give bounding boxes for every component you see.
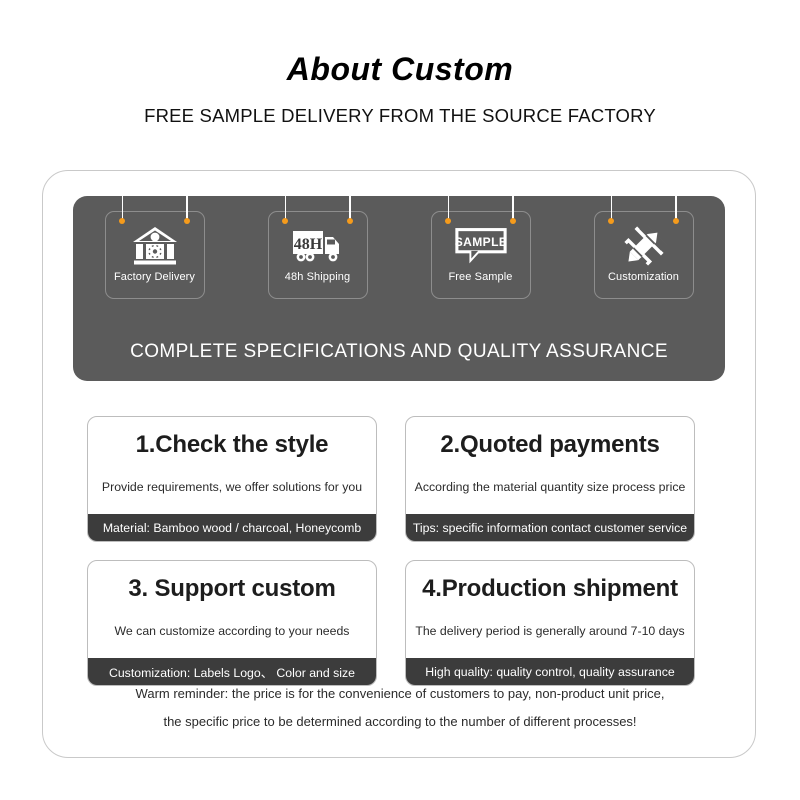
step-title: 3. Support custom [88, 561, 376, 603]
pencil-ruler-icon [617, 224, 671, 268]
pin-left-icon [608, 218, 614, 224]
pin-left-icon [445, 218, 451, 224]
factory-gear-icon [128, 224, 182, 268]
truck-48h-icon: 48H [291, 224, 345, 268]
step-footer-bar: Tips: specific information contact custo… [406, 514, 694, 541]
about-custom-infographic: About Custom FREE SAMPLE DELIVERY FROM T… [0, 0, 800, 800]
step-card-2[interactable]: 2.Quoted payments According the material… [405, 416, 695, 542]
header: About Custom FREE SAMPLE DELIVERY FROM T… [0, 52, 800, 127]
step-card-3[interactable]: 3. Support custom We can customize accor… [87, 560, 377, 686]
pin-right-icon [673, 218, 679, 224]
badge-label: Free Sample [448, 271, 512, 283]
page-title: About Custom [0, 52, 800, 87]
badge-free-sample[interactable]: SAMPLE Free Sample [431, 211, 531, 299]
badge-label: 48h Shipping [285, 271, 350, 283]
step-card-1[interactable]: 1.Check the style Provide requirements, … [87, 416, 377, 542]
badge-48h-shipping[interactable]: 48H 48h Shipping [268, 211, 368, 299]
svg-text:SAMPLE: SAMPLE [454, 235, 507, 249]
step-description: Provide requirements, we offer solutions… [88, 459, 376, 514]
pin-left-icon [119, 218, 125, 224]
page-subtitle: FREE SAMPLE DELIVERY FROM THE SOURCE FAC… [0, 105, 800, 127]
panel-banner: COMPLETE SPECIFICATIONS AND QUALITY ASSU… [73, 341, 725, 363]
step-description: We can customize according to your needs [88, 603, 376, 658]
content-container: Factory Delivery 48H [42, 170, 756, 758]
step-footer-bar: Material: Bamboo wood / charcoal, Honeyc… [88, 514, 376, 541]
step-title: 4.Production shipment [406, 561, 694, 603]
step-description: The delivery period is generally around … [406, 603, 694, 658]
pin-left-icon [282, 218, 288, 224]
pin-right-icon [347, 218, 353, 224]
step-description: According the material quantity size pro… [406, 459, 694, 514]
steps-grid: 1.Check the style Provide requirements, … [87, 416, 713, 686]
pin-right-icon [510, 218, 516, 224]
step-title: 1.Check the style [88, 417, 376, 459]
step-card-4[interactable]: 4.Production shipment The delivery perio… [405, 560, 695, 686]
badge-customization[interactable]: Customization [594, 211, 694, 299]
warm-reminder-note: Warm reminder: the price is for the conv… [43, 680, 757, 735]
warm-reminder-line-1: Warm reminder: the price is for the conv… [43, 680, 757, 707]
svg-text:48H: 48H [293, 236, 322, 253]
warm-reminder-line-2: the specific price to be determined acco… [43, 708, 757, 735]
step-title: 2.Quoted payments [406, 417, 694, 459]
badge-factory-delivery[interactable]: Factory Delivery [105, 211, 205, 299]
badge-row: Factory Delivery 48H [73, 196, 725, 314]
pin-right-icon [184, 218, 190, 224]
badge-label: Customization [608, 271, 679, 283]
feature-panel: Factory Delivery 48H [73, 196, 725, 381]
sample-speech-bubble-icon: SAMPLE [454, 224, 508, 268]
badge-label: Factory Delivery [114, 271, 195, 283]
